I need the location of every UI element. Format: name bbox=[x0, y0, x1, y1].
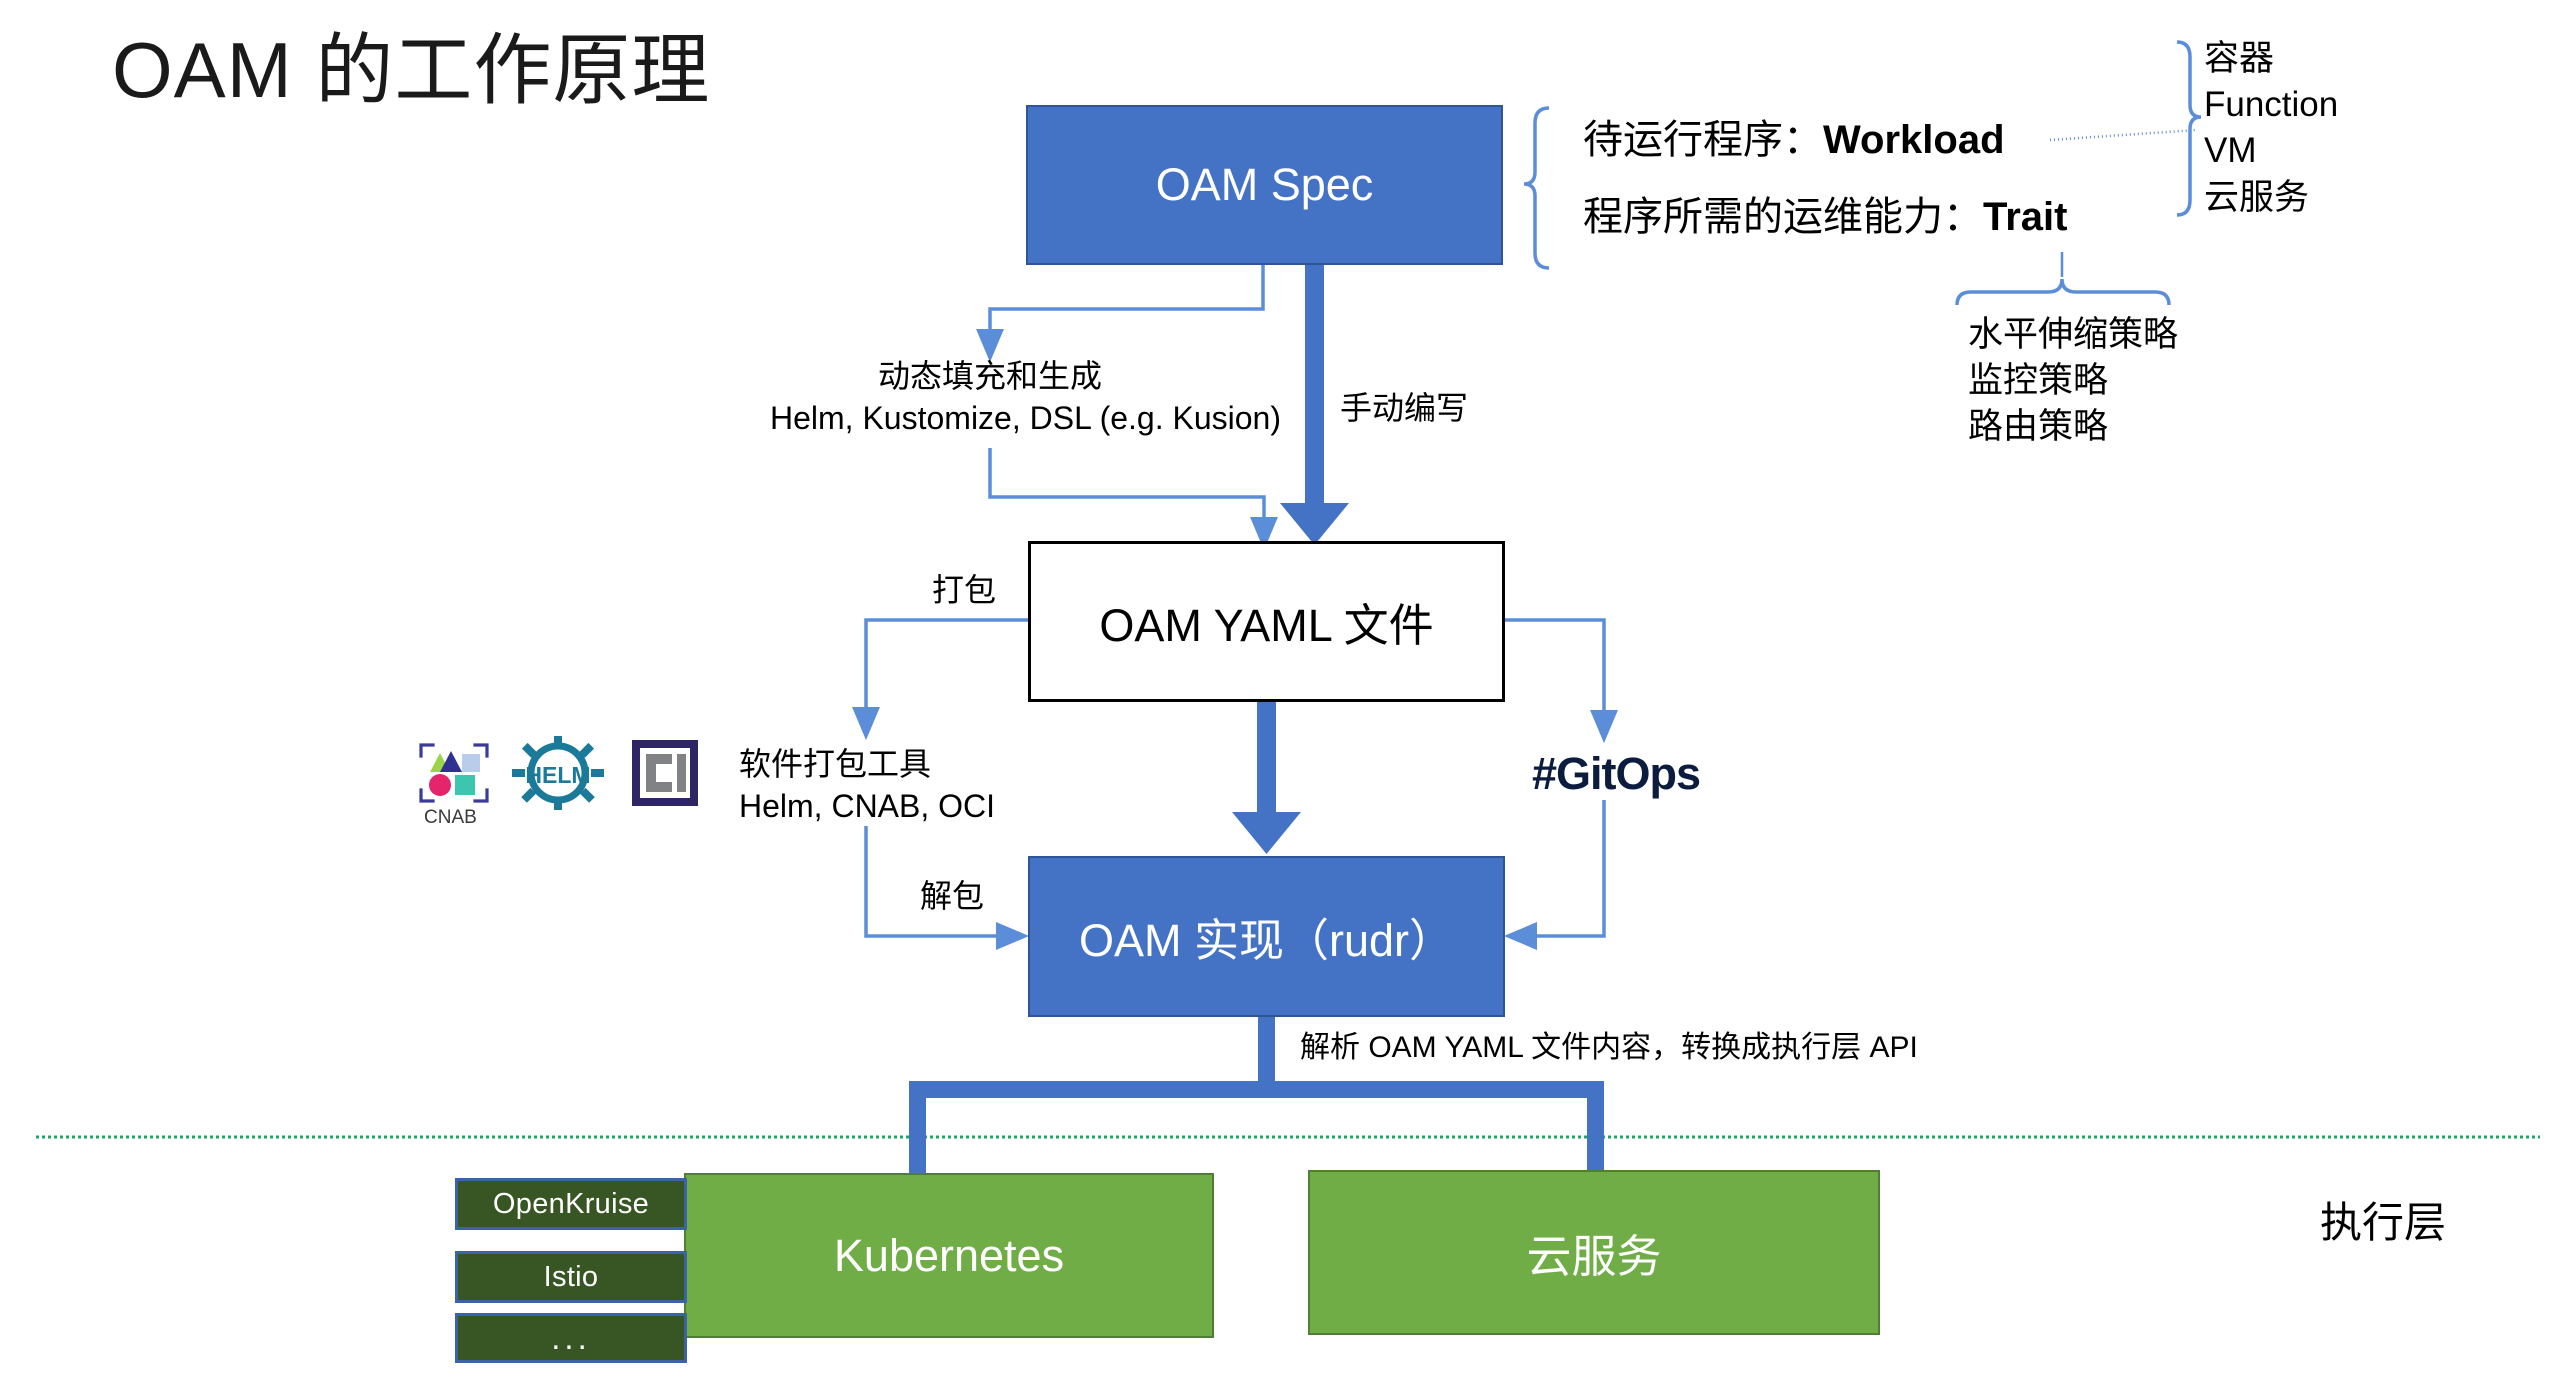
label-parse-yaml-to-api: 解析 OAM YAML 文件内容，转换成执行层 API bbox=[1300, 1029, 1918, 1067]
brace-spec-annotations bbox=[1524, 108, 1549, 268]
box-oam-implementation-rudr[interactable]: OAM 实现（rudr） bbox=[1028, 856, 1505, 1017]
list-workload-kinds: 容器 Function VM 云服务 bbox=[2204, 36, 2338, 221]
label-execution-layer: 执行层 bbox=[2320, 1197, 2446, 1250]
oci-logo bbox=[632, 740, 698, 806]
trait-term: Trait bbox=[1983, 195, 2067, 239]
label-trait-annotation: 程序所需的运维能力：Trait bbox=[1583, 192, 2067, 242]
label-dynamic-generate: 动态填充和生成 Helm, Kustomize, DSL (e.g. Kusio… bbox=[770, 355, 1210, 439]
arrow-manual-write bbox=[1280, 265, 1349, 545]
arrow-yaml-to-rudr bbox=[1232, 702, 1301, 854]
box-kubernetes[interactable]: Kubernetes bbox=[684, 1173, 1214, 1338]
page-title: OAM 的工作原理 bbox=[112, 28, 710, 114]
arrow-gitops-to-rudr bbox=[1521, 800, 1604, 936]
cnab-logo-caption: CNAB bbox=[424, 806, 477, 830]
arrow-yaml-to-package-tools bbox=[866, 620, 1028, 723]
arrow-generate-to-yaml bbox=[990, 448, 1264, 533]
brace-workload-kinds bbox=[2177, 42, 2201, 215]
helm-logo: HELM bbox=[512, 736, 604, 810]
leader-workload-to-kinds bbox=[2050, 130, 2196, 140]
list-trait-kinds: 水平伸缩策略 监控策略 路由策略 bbox=[1968, 312, 2178, 451]
cnab-logo bbox=[418, 742, 490, 804]
box-oam-yaml[interactable]: OAM YAML 文件 bbox=[1028, 541, 1505, 702]
label-manual-write: 手动编写 bbox=[1340, 388, 1468, 428]
workload-prefix: 待运行程序： bbox=[1583, 118, 1823, 162]
arrow-yaml-to-gitops bbox=[1505, 620, 1604, 726]
tab-more[interactable]: ... bbox=[455, 1313, 687, 1363]
trait-prefix: 程序所需的运维能力： bbox=[1583, 195, 1983, 239]
helm-logo-text: HELM bbox=[525, 762, 590, 788]
arrow-spec-to-generate-top bbox=[990, 265, 1263, 345]
label-package: 打包 bbox=[932, 570, 996, 610]
tab-openkruise[interactable]: OpenKruise bbox=[455, 1178, 687, 1230]
label-package-tools: 软件打包工具 Helm, CNAB, OCI bbox=[739, 743, 995, 827]
box-oam-spec[interactable]: OAM Spec bbox=[1026, 105, 1503, 265]
label-workload-annotation: 待运行程序：Workload bbox=[1583, 115, 2005, 165]
tab-istio[interactable]: Istio bbox=[455, 1251, 687, 1303]
brace-trait-kinds bbox=[1957, 279, 2169, 305]
box-cloud-service[interactable]: 云服务 bbox=[1308, 1170, 1880, 1335]
label-gitops: #GitOps bbox=[1532, 746, 1700, 802]
workload-term: Workload bbox=[1823, 118, 2005, 162]
label-unpack: 解包 bbox=[920, 876, 984, 916]
